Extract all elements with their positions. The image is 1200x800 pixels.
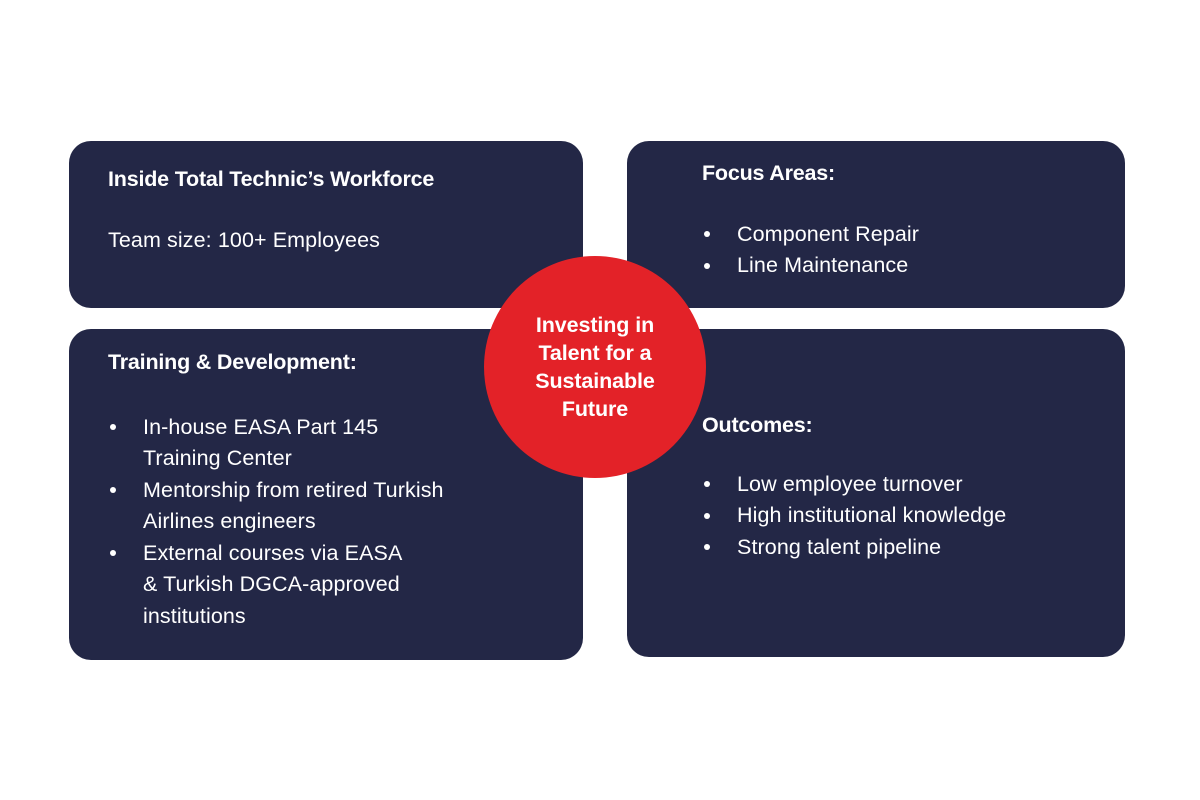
card-outcomes-title: Outcomes:	[702, 413, 1097, 439]
bullet-dot-icon	[704, 263, 710, 269]
list-item-line: & Turkish DGCA-approved	[143, 569, 553, 601]
card-focus-areas-title: Focus Areas:	[702, 161, 1091, 187]
card-focus-areas: Focus Areas: Component Repair Line Maint…	[627, 141, 1125, 308]
bullet-dot-icon	[110, 550, 116, 556]
outcomes-bullet-list: Low employee turnover High institutional…	[702, 439, 1097, 564]
card-workforce-subtitle: Team size: 100+ Employees	[108, 193, 549, 254]
list-item-label: Component Repair	[737, 219, 1091, 251]
focus-areas-bullet-list: Component Repair Line Maintenance	[702, 187, 1091, 282]
card-workforce-title: Inside Total Technic’s Workforce	[108, 167, 549, 193]
list-item-line: Airlines engineers	[143, 506, 553, 538]
list-item-label: Line Maintenance	[737, 250, 1091, 282]
center-badge-circle: Investing in Talent for a Sustainable Fu…	[484, 256, 706, 478]
infographic-canvas: Inside Total Technic’s Workforce Team si…	[0, 0, 1200, 800]
list-item-line: institutions	[143, 601, 553, 633]
list-item-label: High institutional knowledge	[737, 500, 1097, 532]
list-item-line: Mentorship from retired Turkish	[143, 475, 553, 507]
list-item: In-house EASA Part 145 Training Center	[108, 412, 553, 475]
center-badge-label: Investing in Talent for a Sustainable Fu…	[500, 311, 690, 423]
list-item-label: Low employee turnover	[737, 469, 1097, 501]
list-item: External courses via EASA & Turkish DGCA…	[108, 538, 553, 633]
list-item: High institutional knowledge	[702, 500, 1097, 532]
center-badge-line: Sustainable	[500, 367, 690, 395]
bullet-dot-icon	[704, 231, 710, 237]
bullet-dot-icon	[110, 487, 116, 493]
card-workforce: Inside Total Technic’s Workforce Team si…	[69, 141, 583, 308]
list-item-line: Training Center	[143, 443, 553, 475]
list-item: Strong talent pipeline	[702, 532, 1097, 564]
list-item: Component Repair	[702, 219, 1091, 251]
list-item: Low employee turnover	[702, 469, 1097, 501]
center-badge-line: Future	[500, 395, 690, 423]
list-item: Mentorship from retired Turkish Airlines…	[108, 475, 553, 538]
list-item: Line Maintenance	[702, 250, 1091, 282]
bullet-dot-icon	[704, 544, 710, 550]
list-item-line: External courses via EASA	[143, 538, 553, 570]
center-badge-line: Talent for a	[500, 339, 690, 367]
list-item-line: In-house EASA Part 145	[143, 412, 553, 444]
bullet-dot-icon	[704, 481, 710, 487]
center-badge-line: Investing in	[500, 311, 690, 339]
bullet-dot-icon	[704, 513, 710, 519]
list-item-label: Strong talent pipeline	[737, 532, 1097, 564]
bullet-dot-icon	[110, 424, 116, 430]
training-bullet-list: In-house EASA Part 145 Training Center M…	[108, 376, 553, 633]
